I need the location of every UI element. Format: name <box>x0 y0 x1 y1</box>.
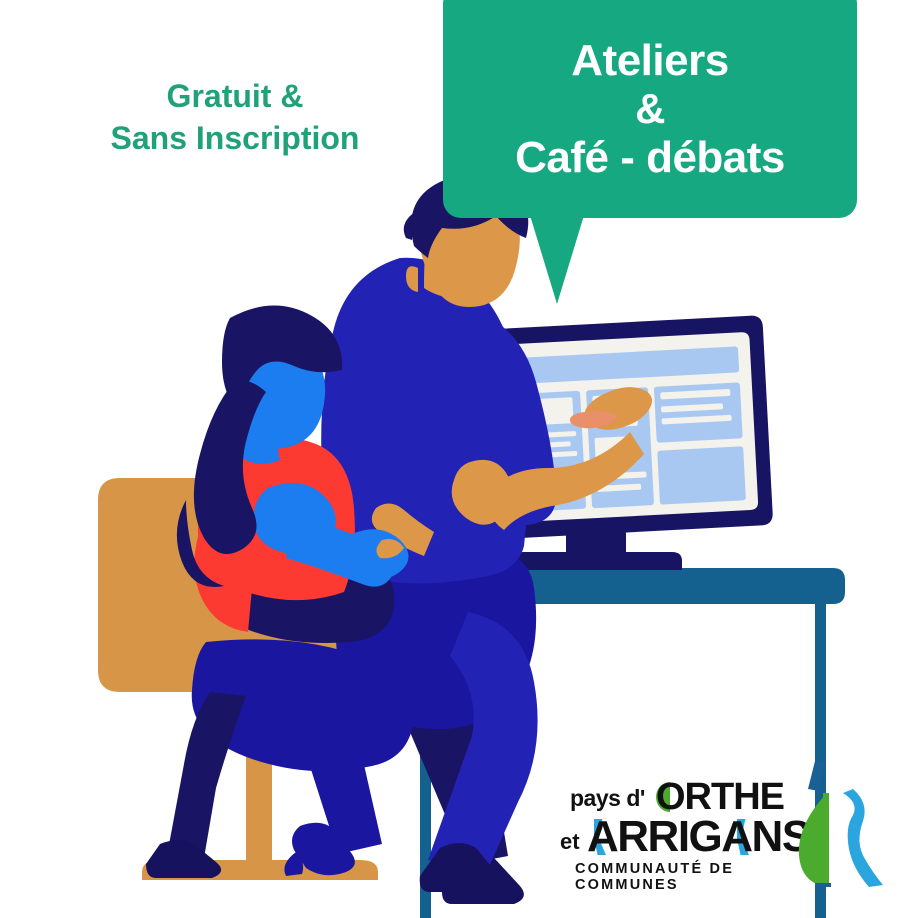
pays-dorthe-et-arrigans-logo: pays d' ORTHE et ARRIGANS COMMUNAUTÉ DE … <box>570 775 910 900</box>
poster-canvas: Gratuit & Sans Inscription Ateliers & Ca… <box>0 0 920 918</box>
logo-mark-leaf-and-river-icon <box>775 759 910 889</box>
headline-line-2: Sans Inscription <box>60 118 410 160</box>
logo-stem-icon <box>808 761 825 791</box>
bubble-line-1: Ateliers <box>571 36 728 85</box>
bubble-line-2: & <box>635 85 665 132</box>
speech-bubble-tail <box>529 212 585 304</box>
logo-pays-d: pays d' <box>570 785 645 812</box>
logo-et: et <box>560 829 580 855</box>
ateliers-cafe-debats-bubble: Ateliers & Café - débats <box>443 0 857 218</box>
headline-line-1: Gratuit & <box>60 76 410 118</box>
logo-river-icon <box>843 789 883 887</box>
free-no-registration-headline: Gratuit & Sans Inscription <box>60 76 410 159</box>
bubble-line-3: Café - débats <box>515 133 785 182</box>
